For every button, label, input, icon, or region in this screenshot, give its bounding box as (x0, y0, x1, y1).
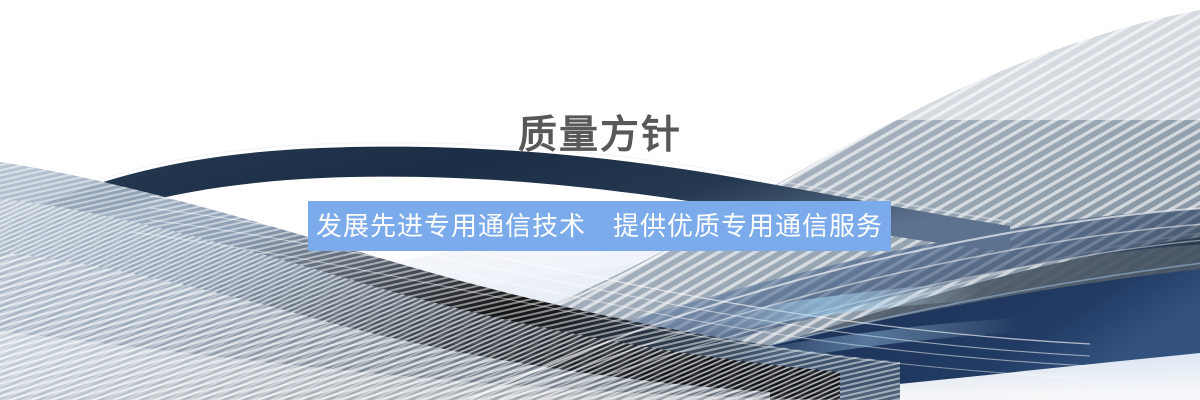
page-title: 质量方针 (0, 112, 1200, 160)
quality-policy-banner: 质量方针 发展先进专用通信技术 提供优质专用通信服务 (0, 0, 1200, 400)
abstract-wave-background (0, 0, 1200, 400)
slogan-bar: 发展先进专用通信技术 提供优质专用通信服务 (308, 201, 891, 251)
slogan-text: 发展先进专用通信技术 提供优质专用通信服务 (316, 211, 883, 241)
